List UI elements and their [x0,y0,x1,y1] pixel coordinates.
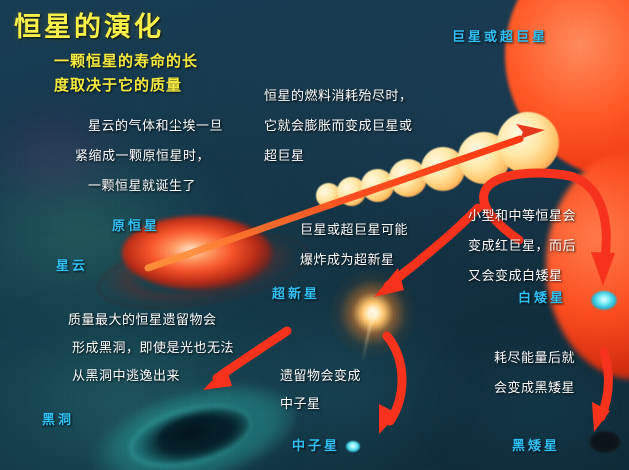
blackdwarf-note-line-1: 耗尽能量后就 [494,350,575,368]
label-neutron-star: 中子星 [292,438,340,456]
giant-note-line-1: 恒星的燃料消耗殆尽时， [264,88,413,106]
label-nebula: 星云 [56,258,88,276]
label-black-dwarf: 黑矮星 [512,438,560,456]
reddwarf-note-line-3: 又会变成白矮星 [468,268,563,286]
blackhole-note-line-1: 质量最大的恒星遗留物会 [68,312,217,330]
giant-note-line-3: 超巨星 [264,148,305,166]
label-protostar: 原恒星 [112,218,160,236]
nebula-note-line-3: 一颗恒星就诞生了 [88,178,196,196]
supernova-note-line-1: 巨星或超巨星可能 [300,222,408,240]
label-white-dwarf: 白矮星 [518,290,566,308]
subtitle-line-1: 一颗恒星的寿命的长 [54,51,198,72]
giant-note-line-2: 它就会膨胀而变成巨星或 [264,118,413,136]
blackhole-note-line-2: 形成黑洞，即使是光也无法 [72,340,234,358]
neutron-note-line-1: 遗留物会变成 [280,368,361,386]
nebula-note-line-2: 紧缩成一颗原恒星时， [75,148,210,166]
supernova-note-line-2: 爆炸成为超新星 [300,252,395,270]
label-black-hole: 黑洞 [42,412,74,430]
reddwarf-note-line-2: 变成红巨星，而后 [468,238,576,256]
subtitle-line-2: 度取决于它的质量 [54,75,182,96]
label-supernova: 超新星 [272,286,320,304]
label-giant-or-supergiant: 巨星或超巨星 [452,29,548,47]
blackdwarf-note-line-2: 会变成黑矮星 [494,380,575,398]
reddwarf-note-line-1: 小型和中等恒星会 [468,208,576,226]
nebula-note-line-1: 星云的气体和尘埃一旦 [88,118,223,136]
blackhole-note-line-3: 从黑洞中逃逸出来 [72,368,180,386]
stellar-evolution-slide: 恒星的演化 一颗恒星的寿命的长 度取决于它的质量 星云的气体和尘埃一旦 紧缩成一… [0,0,629,470]
neutron-note-line-2: 中子星 [280,396,321,414]
page-title: 恒星的演化 [14,9,164,47]
